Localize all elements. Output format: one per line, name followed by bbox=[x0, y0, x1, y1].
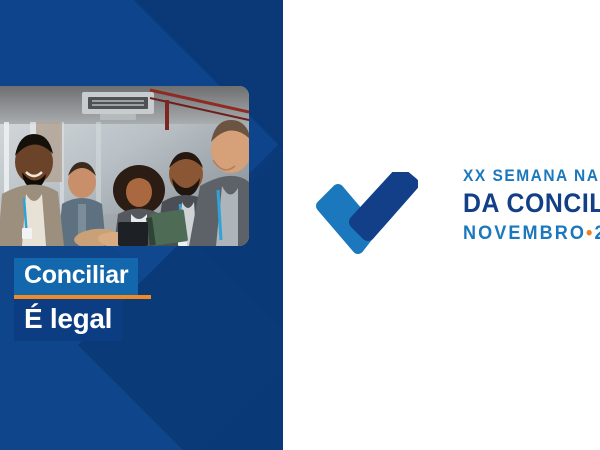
banner-line-conciliar: Conciliar bbox=[14, 258, 138, 295]
banner-line-e-legal: É legal bbox=[14, 299, 122, 341]
event-logo-lockup: XX SEMANA NACIONAL DA CONCILIAÇÃO NOVEMB… bbox=[316, 168, 600, 278]
event-title-block: XX SEMANA NACIONAL DA CONCILIAÇÃO NOVEMB… bbox=[463, 168, 600, 243]
title-month: NOVEMBRO bbox=[463, 223, 586, 244]
right-white-panel: XX SEMANA NACIONAL DA CONCILIAÇÃO NOVEMB… bbox=[283, 0, 600, 450]
title-year: 2025 bbox=[594, 223, 600, 244]
title-line-date: NOVEMBRO•2025 bbox=[463, 224, 600, 243]
title-line-semana-nacional: XX SEMANA NACIONAL bbox=[463, 168, 600, 185]
checkmark-icon bbox=[316, 172, 418, 264]
conciliar-banner: Conciliar É legal bbox=[14, 258, 151, 341]
photo-handshake-group bbox=[0, 86, 249, 246]
title-line-da-conciliacao: DA CONCILIAÇÃO bbox=[463, 190, 600, 217]
poster-canvas: Conciliar É legal XX SEMANA NACIONAL DA … bbox=[0, 0, 600, 450]
